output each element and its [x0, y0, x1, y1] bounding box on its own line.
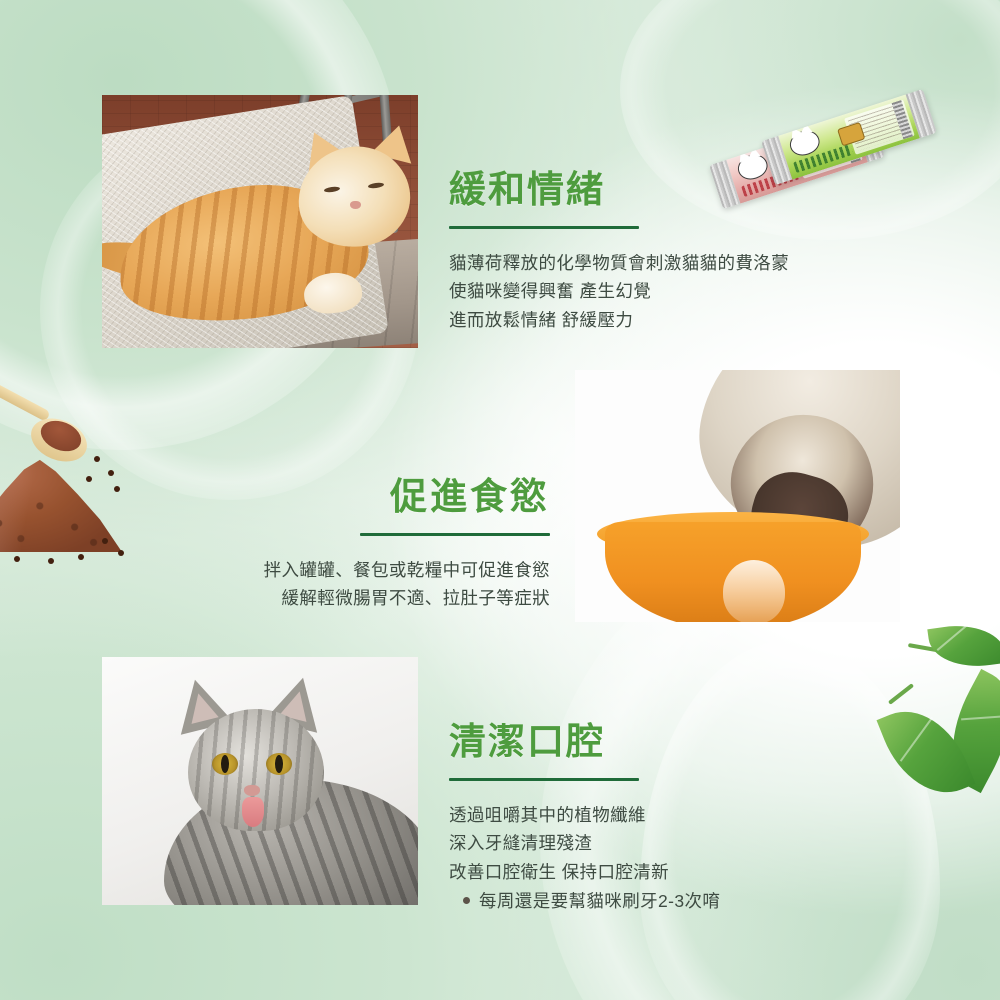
decor-catnip-leaves [874, 628, 1000, 858]
cat-nose [244, 785, 260, 796]
powder-speck [114, 486, 120, 492]
feature-body-line: 進而放鬆情緒 舒緩壓力 [449, 306, 869, 334]
decor-spoon-and-powder [0, 378, 130, 568]
feature-body-line: 緩解輕微腸胃不適、拉肚子等症狀 [150, 584, 550, 612]
cat-tongue [242, 797, 264, 827]
feature-body-line: 貓薄荷釋放的化學物質會刺激貓貓的費洛蒙 [449, 249, 869, 277]
feature-body: 貓薄荷釋放的化學物質會刺激貓貓的費洛蒙 使貓咪變得興奮 產生幻覺 進而放鬆情緒 … [449, 249, 869, 334]
feature-divider [360, 533, 550, 536]
product-feature-poster: 緩和情緒 貓薄荷釋放的化學物質會刺激貓貓的費洛蒙 使貓咪變得興奮 產生幻覺 進而… [0, 0, 1000, 1000]
wooden-spoon-handle [0, 381, 51, 422]
photo-cat-licking [102, 657, 418, 905]
feature-divider [449, 226, 639, 229]
feature-heading: 清潔口腔 [449, 722, 869, 762]
feature-note: 每周還是要幫貓咪刷牙2-3次唷 [449, 888, 869, 913]
feature-block-clean-mouth: 清潔口腔 透過咀嚼其中的植物纖維 深入牙縫清理殘渣 改善口腔衛生 保持口腔清新 … [449, 722, 869, 913]
feature-block-soothe-mood: 緩和情緒 貓薄荷釋放的化學物質會刺激貓貓的費洛蒙 使貓咪變得興奮 產生幻覺 進而… [449, 170, 869, 334]
feature-body-line: 深入牙縫清理殘渣 [449, 829, 869, 857]
bullet-icon [463, 897, 470, 904]
feature-body: 透過咀嚼其中的植物纖維 深入牙縫清理殘渣 改善口腔衛生 保持口腔清新 [449, 801, 869, 886]
cat-eye-right [266, 753, 292, 775]
leaf-stem [888, 683, 914, 705]
feature-heading: 促進食慾 [150, 477, 550, 517]
powder-speck [48, 558, 54, 564]
powder-speck [108, 470, 114, 476]
powder-speck [86, 476, 92, 482]
feature-body-line: 改善口腔衛生 保持口腔清新 [449, 858, 869, 886]
cat-eye-left [212, 753, 238, 775]
photo-cat-eating [575, 370, 900, 622]
powder-speck [94, 456, 100, 462]
feature-note-text: 每周還是要幫貓咪刷牙2-3次唷 [479, 888, 720, 913]
catnip-leaf [927, 619, 1000, 673]
powder-speck [78, 554, 84, 560]
powder-speck [102, 538, 108, 544]
feature-heading: 緩和情緒 [449, 170, 869, 210]
feature-body: 拌入罐罐、餐包或乾糧中可促進食慾 緩解輕微腸胃不適、拉肚子等症狀 [150, 556, 550, 613]
food-bowl-highlight [723, 560, 785, 622]
food-bowl [605, 522, 861, 622]
feature-body-line: 透過咀嚼其中的植物纖維 [449, 801, 869, 829]
cat-nose [350, 201, 361, 209]
feature-body-line: 拌入罐罐、餐包或乾糧中可促進食慾 [150, 556, 550, 584]
powder-speck [118, 550, 124, 556]
powder-speck [14, 556, 20, 562]
photo-cat-relaxed [102, 95, 418, 348]
feature-block-boost-appetite: 促進食慾 拌入罐罐、餐包或乾糧中可促進食慾 緩解輕微腸胃不適、拉肚子等症狀 [150, 477, 550, 613]
feature-body-line: 使貓咪變得興奮 產生幻覺 [449, 277, 869, 305]
feature-divider [449, 778, 639, 781]
